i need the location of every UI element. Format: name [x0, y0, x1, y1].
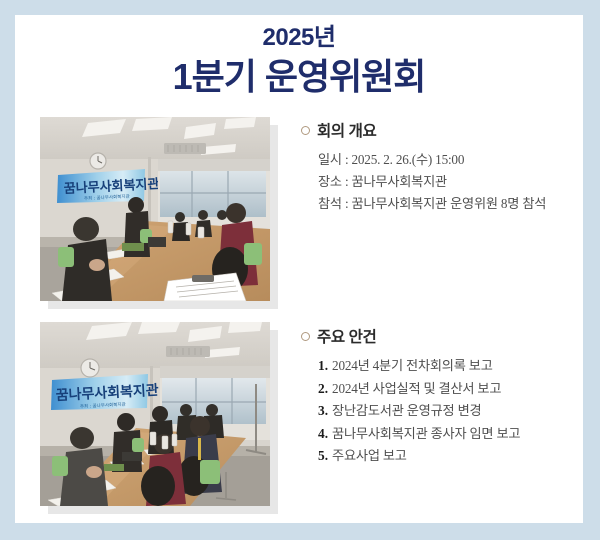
- list-item: 3. 장난감도서관 운영규정 변경: [318, 400, 583, 423]
- list-item: 1. 2024년 4분기 전차회의록 보고: [318, 355, 583, 378]
- overview-line-attendees: 참석 : 꿈나무사회복지관 운영위원 8명 참석: [318, 193, 583, 215]
- photo-frame: 꿈나무사회복지관 주최 : 꿈나무사회복지관: [40, 322, 270, 506]
- agenda-heading: 주요 안건: [301, 325, 583, 347]
- meeting-room-illustration: 꿈나무사회복지관 주최 : 꿈나무사회복지관: [40, 322, 270, 506]
- agenda-number: 2.: [318, 378, 328, 401]
- list-item: 5. 주요사업 보고: [318, 445, 583, 468]
- overview-line-datetime: 일시 : 2025. 2. 26.(수) 15:00: [318, 149, 583, 171]
- agenda-text: 꿈나무사회복지관 종사자 임면 보고: [332, 423, 520, 446]
- list-item: 2. 2024년 사업실적 및 결산서 보고: [318, 378, 583, 401]
- overview-heading-label: 회의 개요: [317, 119, 376, 141]
- overview-lines: 일시 : 2025. 2. 26.(수) 15:00 장소 : 꿈나무사회복지관…: [301, 149, 583, 215]
- poster-card: 2025년 1분기 운영위원회: [15, 15, 583, 523]
- overview-section: 회의 개요 일시 : 2025. 2. 26.(수) 15:00 장소 : 꿈나…: [301, 119, 583, 215]
- agenda-text: 2024년 사업실적 및 결산서 보고: [332, 378, 501, 401]
- list-item: 4. 꿈나무사회복지관 종사자 임면 보고: [318, 423, 583, 446]
- agenda-text: 2024년 4분기 전차회의록 보고: [332, 355, 493, 378]
- photo-frame: 꿈나무사회복지관 주최 : 꿈나무사회복지관: [40, 117, 270, 301]
- meeting-room-illustration: 꿈나무사회복지관 주최 : 꿈나무사회복지관: [40, 117, 270, 301]
- agenda-number: 4.: [318, 423, 328, 446]
- overview-heading: 회의 개요: [301, 119, 583, 141]
- overview-line-place: 장소 : 꿈나무사회복지관: [318, 171, 583, 193]
- circle-bullet-icon: [301, 126, 310, 135]
- circle-bullet-icon: [301, 332, 310, 341]
- agenda-list: 1. 2024년 4분기 전차회의록 보고 2. 2024년 사업실적 및 결산…: [301, 355, 583, 468]
- agenda-section: 주요 안건 1. 2024년 4분기 전차회의록 보고 2. 2024년 사업실…: [301, 325, 583, 468]
- meeting-photo-2: 꿈나무사회복지관 주최 : 꿈나무사회복지관: [40, 322, 270, 506]
- agenda-number: 3.: [318, 400, 328, 423]
- meeting-photo-1: 꿈나무사회복지관 주최 : 꿈나무사회복지관: [40, 117, 270, 301]
- agenda-number: 1.: [318, 355, 328, 378]
- content-column: 회의 개요 일시 : 2025. 2. 26.(수) 15:00 장소 : 꿈나…: [287, 15, 583, 523]
- agenda-text: 장난감도서관 운영규정 변경: [332, 400, 481, 423]
- agenda-text: 주요사업 보고: [332, 445, 407, 468]
- agenda-heading-label: 주요 안건: [317, 325, 376, 347]
- agenda-number: 5.: [318, 445, 328, 468]
